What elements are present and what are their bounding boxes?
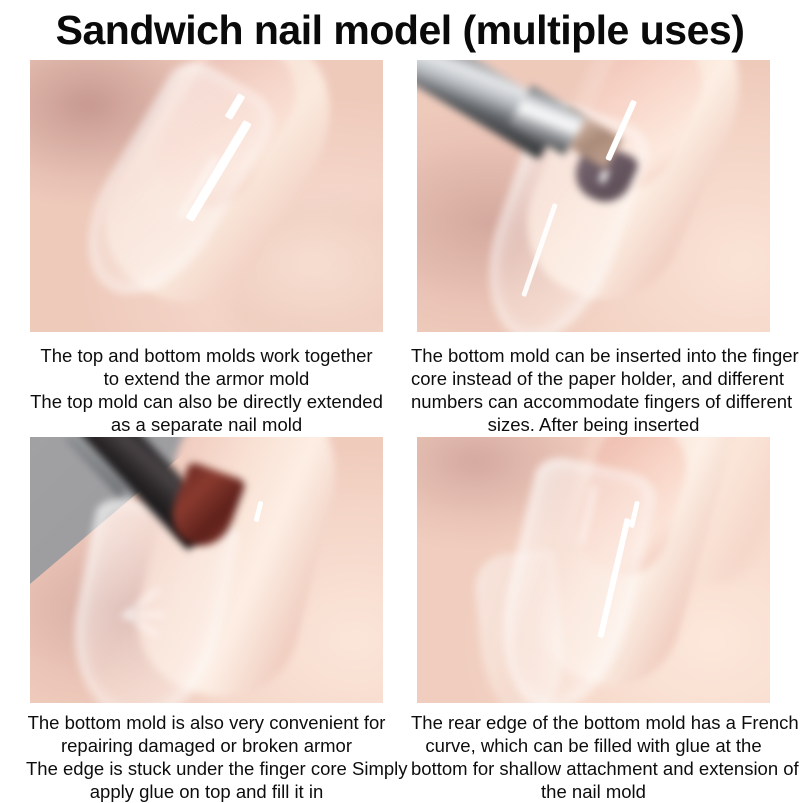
caption-3: The bottom mold is also very convenient …	[26, 711, 387, 803]
caption-2-line-2: core instead of the paper holder, and di…	[411, 367, 776, 390]
caption-4: The rear edge of the bottom mold has a F…	[411, 711, 776, 803]
caption-2-line-1: The bottom mold can be inserted into the…	[411, 344, 776, 367]
caption-2-line-4: sizes. After being inserted	[411, 413, 776, 436]
photo-3-mold-detail-line-3	[129, 613, 164, 616]
caption-4-line-1: The rear edge of the bottom mold has a F…	[411, 711, 776, 734]
product-photo-2	[417, 60, 770, 332]
caption-3-line-2: repairing damaged or broken armor	[26, 734, 387, 757]
caption-3-line-3: The edge is stuck under the finger core …	[26, 757, 387, 780]
caption-1: The top and bottom molds work together t…	[30, 344, 383, 436]
product-photo-4	[417, 437, 770, 703]
product-photo-1	[30, 60, 383, 332]
caption-4-line-3: bottom for shallow attachment and extens…	[411, 757, 776, 780]
infographic-page: Sandwich nail model (multiple uses) The …	[0, 0, 800, 800]
caption-1-line-4: as a separate nail mold	[30, 413, 383, 436]
caption-3-line-1: The bottom mold is also very convenient …	[26, 711, 387, 734]
caption-2: The bottom mold can be inserted into the…	[411, 344, 776, 436]
caption-4-line-2: curve, which can be filled with glue at …	[411, 734, 776, 757]
caption-1-line-1: The top and bottom molds work together	[30, 344, 383, 367]
product-photo-3	[30, 437, 383, 703]
caption-1-line-2: to extend the armor mold	[30, 367, 383, 390]
page-title: Sandwich nail model (multiple uses)	[0, 6, 800, 54]
caption-1-line-3: The top mold can also be directly extend…	[30, 390, 383, 413]
caption-2-line-3: numbers can accommodate fingers of diffe…	[411, 390, 776, 413]
